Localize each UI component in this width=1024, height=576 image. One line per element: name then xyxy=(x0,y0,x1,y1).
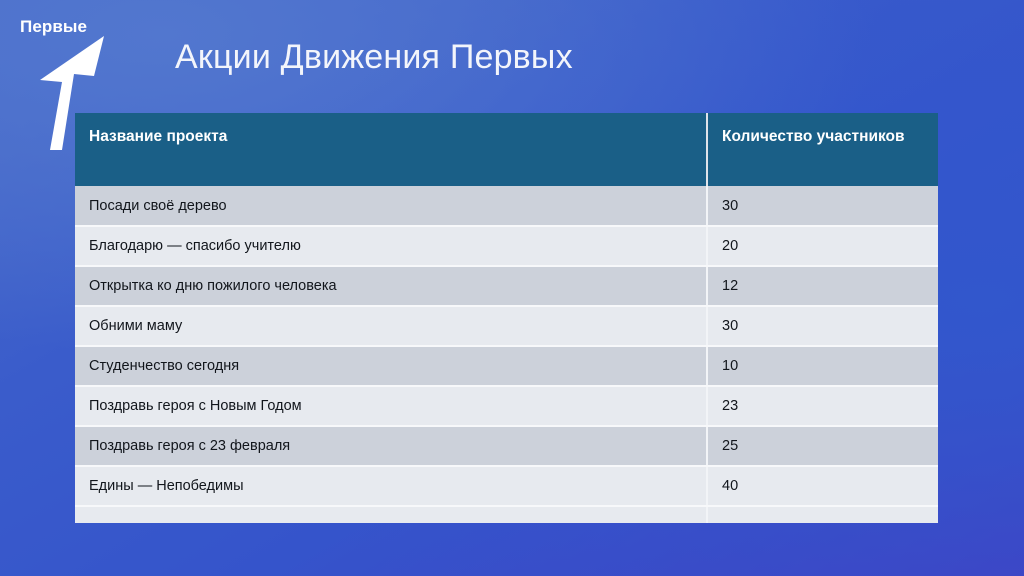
cell-participants-count: 20 xyxy=(707,226,938,266)
cell-participants-count: 12 xyxy=(707,266,938,306)
cell-participants-count: 30 xyxy=(707,186,938,226)
table-row[interactable]: Посади своё дерево 30 xyxy=(75,186,938,226)
cell-project-name: Благодарю — спасибо учителю xyxy=(75,226,707,266)
table-header: Название проекта Количество участников xyxy=(75,113,938,186)
table-row[interactable]: Поздравь героя с 23 февраля 25 xyxy=(75,426,938,466)
cell-project-name: Поздравь героя с 23 февраля xyxy=(75,426,707,466)
column-header-project-name: Название проекта xyxy=(75,113,707,186)
table-row[interactable]: Поздравь героя с Новым Годом 23 xyxy=(75,386,938,426)
cell-participants-count: 30 xyxy=(707,306,938,346)
cell-participants-count: 23 xyxy=(707,386,938,426)
table-row[interactable]: Едины — Непобедимы 40 xyxy=(75,466,938,506)
table-row[interactable]: Открытка ко дню пожилого человека 12 xyxy=(75,266,938,306)
table-row[interactable]: Благодарю — спасибо учителю 20 xyxy=(75,226,938,266)
cell-participants-count: 10 xyxy=(707,346,938,386)
spacer-cell xyxy=(707,506,938,523)
table-body: Посади своё дерево 30 Благодарю — спасиб… xyxy=(75,186,938,523)
actions-table: Название проекта Количество участников П… xyxy=(75,113,938,523)
cell-project-name: Посади своё дерево xyxy=(75,186,707,226)
page-title: Акции Движения Первых xyxy=(175,38,573,77)
table-header-row: Название проекта Количество участников xyxy=(75,113,938,186)
table-row[interactable]: Обними маму 30 xyxy=(75,306,938,346)
spacer-cell xyxy=(75,506,707,523)
cell-project-name: Едины — Непобедимы xyxy=(75,466,707,506)
column-header-participants-count: Количество участников xyxy=(707,113,938,186)
cell-project-name: Поздравь героя с Новым Годом xyxy=(75,386,707,426)
slide-canvas: Первые Акции Движения Первых Название пр… xyxy=(0,0,1024,576)
cell-project-name: Студенчество сегодня xyxy=(75,346,707,386)
table-bottom-spacer xyxy=(75,506,938,523)
cell-project-name: Открытка ко дню пожилого человека xyxy=(75,266,707,306)
cell-project-name: Обними маму xyxy=(75,306,707,346)
table-row[interactable]: Студенчество сегодня 10 xyxy=(75,346,938,386)
cell-participants-count: 25 xyxy=(707,426,938,466)
cell-participants-count: 40 xyxy=(707,466,938,506)
